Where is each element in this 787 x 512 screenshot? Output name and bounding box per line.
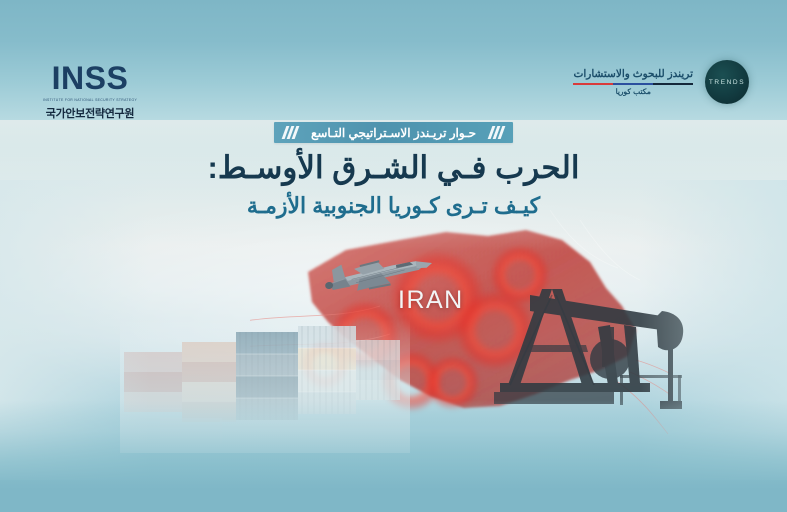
oil-pump-jack-icon [490,255,690,435]
fade-overlay-right [640,180,787,480]
map-hotspot [455,290,535,370]
map-hotspot [330,300,400,370]
page-title: الحرب فـي الشـرق الأوسـط: [0,148,787,188]
map-hotspot [380,350,442,412]
eyebrow-row: حـوار تريـندز الاسـتراتيجي التـاسع [0,122,787,143]
trends-office-label: مكتب كوريا [573,87,693,96]
fade-overlay-left [0,180,150,480]
map-hotspot [425,355,480,410]
slash-marks-right-icon [484,126,509,139]
eyebrow-banner: حـوار تريـندز الاسـتراتيجي التـاسع [274,122,513,143]
eyebrow-label: حـوار تريـندز الاسـتراتيجي التـاسع [303,126,484,140]
trends-circle-mark: TRENDS [705,60,749,104]
trends-arabic-name: تريندز للبحوث والاستشارات [573,68,693,80]
inss-logo: INSS INSTITUTE FOR NATIONAL SECURITY STR… [31,62,149,121]
slash-marks-left-icon [278,126,303,139]
inss-wordmark: INSS [31,62,149,94]
shipping-containers-graphic [120,318,410,453]
inss-korean-line: 국가안보전략연구원 [31,105,149,121]
map-hotspot [300,340,350,390]
map-hotspot [490,245,550,305]
background-haze [0,190,787,440]
headline-block: الحرب فـي الشـرق الأوسـط: كيـف تـرى كـور… [0,148,787,220]
trends-logo: تريندز للبحوث والاستشارات مكتب كوريا TRE… [573,60,749,104]
trends-tricolor-bar [573,83,693,85]
fade-overlay-bottom [0,400,787,512]
page-subtitle: كيـف تـرى كـوريا الجنوبية الأزمـة [0,191,787,221]
map-country-label: IRAN [398,286,464,315]
inss-english-line: INSTITUTE FOR NATIONAL SECURITY STRATEGY [31,98,149,103]
trends-logo-text: تريندز للبحوث والاستشارات مكتب كوريا [573,68,693,96]
trends-circle-label: TRENDS [709,79,745,86]
iran-map-graphic [250,210,670,440]
event-poster: IRAN INSS INSTITUTE FOR NATIONAL SECURIT… [0,0,787,512]
